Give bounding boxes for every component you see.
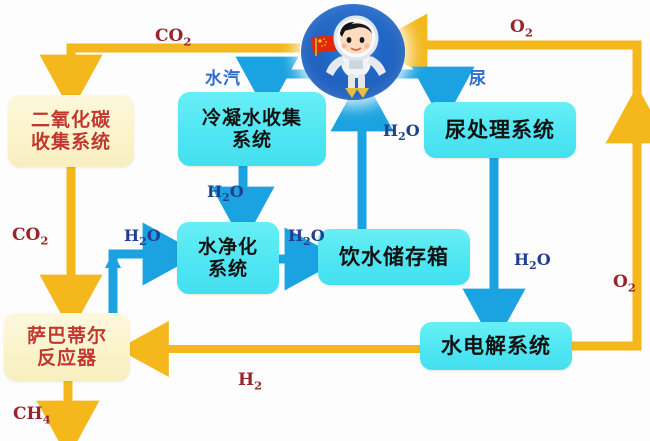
node-condensate-collection-system[interactable]: 冷凝水收集 系统 <box>178 92 326 166</box>
node-label-line2: 收集系统 <box>31 131 111 153</box>
node-label-line1: 萨巴蒂尔 <box>27 325 107 347</box>
edge-label-ch4-bottom: CH4 <box>13 404 51 426</box>
edge-label-o2-top: O2 <box>510 17 533 39</box>
edge-o2-to-astronaut <box>404 45 644 346</box>
node-urine-processing-system[interactable]: 尿处理系统 <box>424 102 576 158</box>
astronaut-figure <box>301 4 405 100</box>
node-label-line1: 水电解系统 <box>441 334 551 359</box>
astronaut-icon <box>301 4 405 100</box>
edge-label-h2o-condensate: H2O <box>207 182 244 204</box>
edge-label-h2o-electrolysis: H2O <box>514 250 551 272</box>
edge-label-h2-bottom: H2 <box>238 370 262 392</box>
node-label-line2: 反应器 <box>27 347 107 369</box>
node-sabatier-reactor[interactable]: 萨巴蒂尔 反应器 <box>4 313 130 381</box>
node-label-line1: 饮水储存箱 <box>339 245 449 270</box>
china-flag-icon <box>311 35 337 56</box>
edge-label-o2-right: O2 <box>613 272 636 294</box>
node-potable-water-tank[interactable]: 饮水储存箱 <box>318 229 470 285</box>
node-label-line1: 冷凝水收集 <box>202 107 302 129</box>
node-water-electrolysis-system[interactable]: 水电解系统 <box>420 322 572 370</box>
node-label-line1: 水净化 <box>198 236 258 258</box>
edge-label-h2o-sabatier: H2O <box>124 226 161 248</box>
edge-label-water-vapor: 水汽 <box>205 64 241 89</box>
node-label-line2: 系统 <box>202 129 302 151</box>
edge-h2o-sabatier-to-purify <box>105 252 166 313</box>
edge-label-h2o-purify-out: H2O <box>288 226 325 248</box>
diagram-canvas: 二氧化碳 收集系统 冷凝水收集 系统 尿处理系统 水净化 系统 饮水储存箱 萨巴… <box>0 0 650 441</box>
edge-label-h2o-astronaut: H2O <box>383 121 420 143</box>
node-label-line2: 系统 <box>198 258 258 280</box>
astronaut-helmet <box>335 17 377 59</box>
node-water-purification-system[interactable]: 水净化 系统 <box>177 222 279 294</box>
node-label-line1: 二氧化碳 <box>31 109 111 131</box>
edge-label-urine: 尿 <box>469 64 487 89</box>
edge-label-co2-left: CO2 <box>12 225 48 247</box>
node-label-line1: 尿处理系统 <box>445 118 555 143</box>
edge-label-co2-top: CO2 <box>155 26 191 48</box>
node-co2-collection-system[interactable]: 二氧化碳 收集系统 <box>8 95 134 167</box>
